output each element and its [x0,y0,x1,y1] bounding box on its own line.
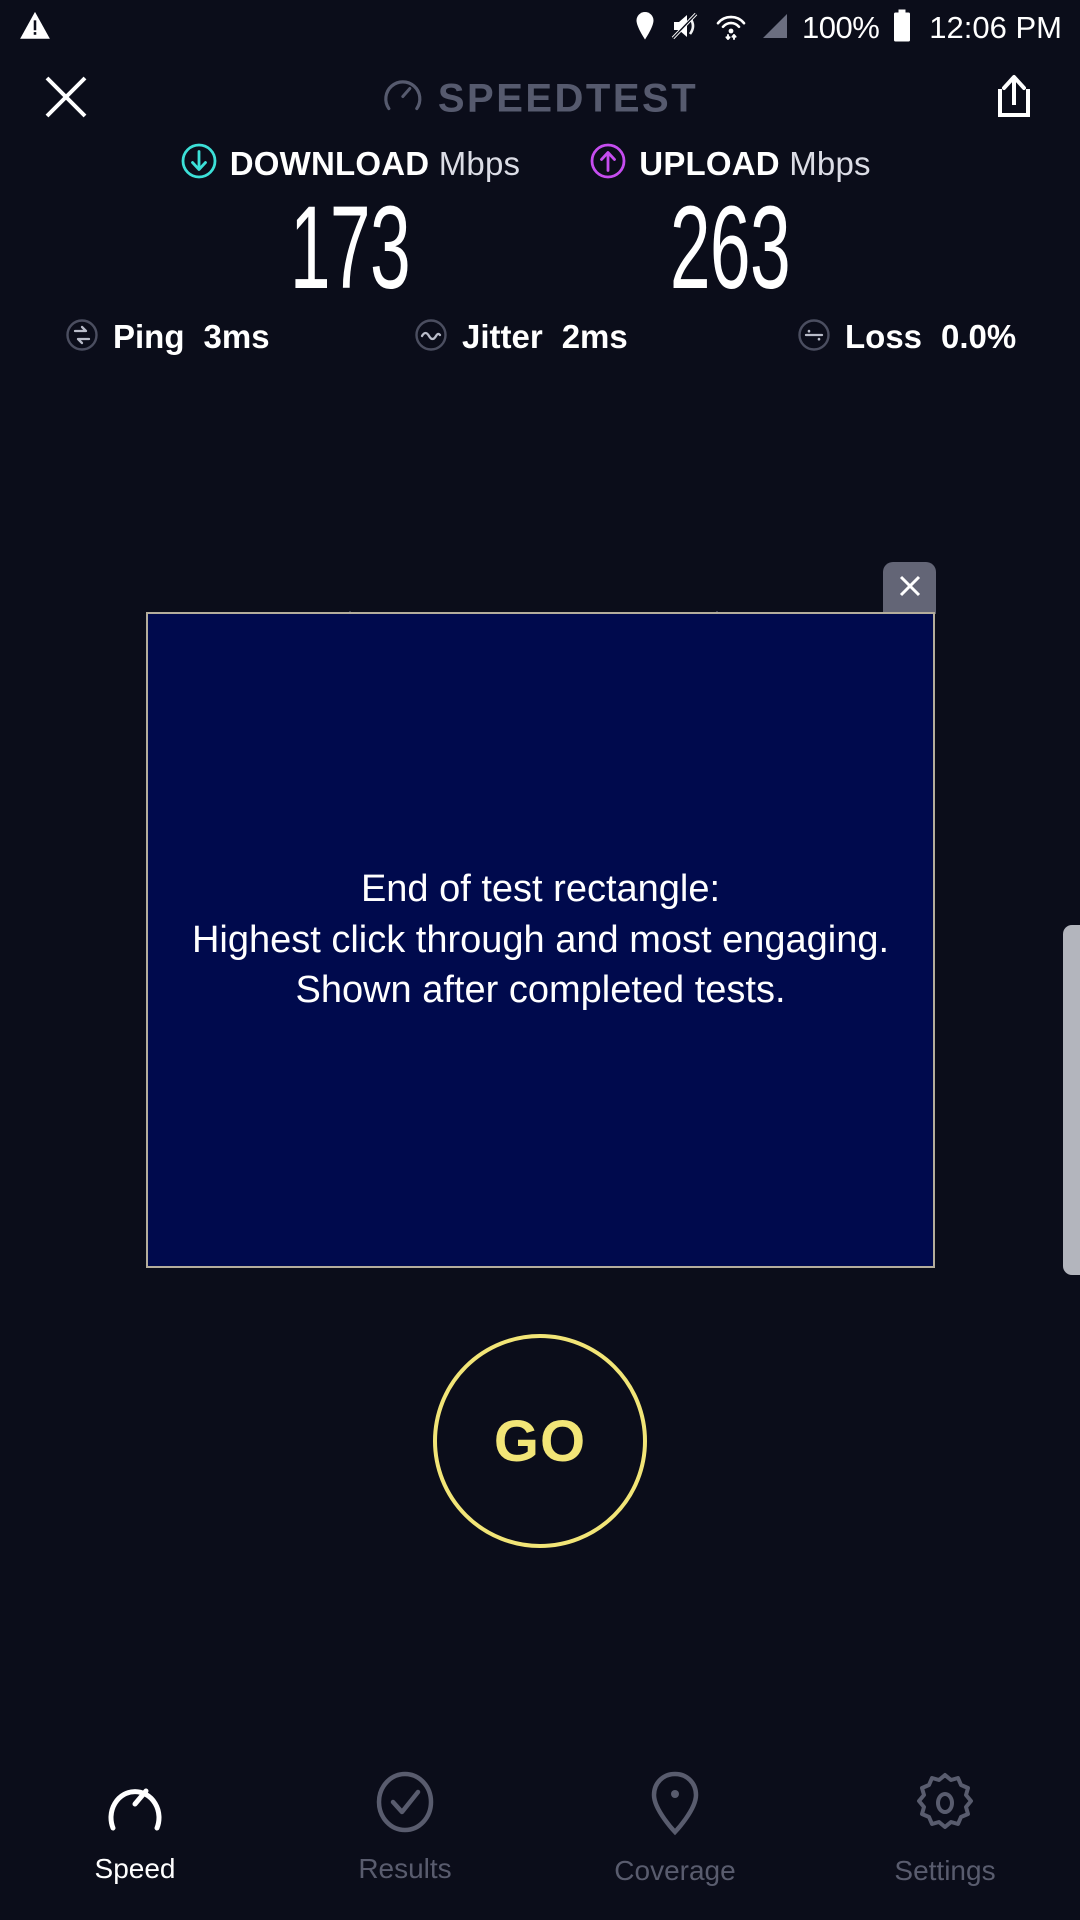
ad-text-line-3: Shown after completed tests. [192,965,889,1016]
status-bar: 100% 12:06 PM [0,0,1080,56]
metric-ping: Ping 3ms [64,317,270,358]
brand-logo: SPEEDTEST [382,76,698,123]
metric-jitter-label: Jitter [462,318,543,356]
nav-item-coverage[interactable]: Coverage [540,1770,810,1887]
app-header: SPEEDTEST [0,56,1080,142]
gear-icon [912,1770,978,1841]
brand-title: SPEEDTEST [438,77,698,122]
nav-item-speed-label: Speed [95,1853,176,1885]
wifi-icon [716,10,746,47]
ping-icon [64,317,100,358]
metrics-row: Ping 3ms Jitter 2ms [0,305,1080,369]
upload-value: 263 [670,189,790,307]
status-bar-clock: 12:06 PM [929,10,1062,46]
upload-value-wrap: 263 [633,189,827,307]
download-label-group: DOWNLOAD Mbps [180,142,520,185]
map-pin-icon [647,1770,703,1841]
metric-jitter: Jitter 2ms [413,317,628,358]
results-row: DOWNLOAD Mbps 173 UPLOAD Mbps [0,142,1080,307]
download-result: DOWNLOAD Mbps 173 [160,142,540,307]
share-button[interactable] [984,69,1044,129]
nav-item-speed[interactable]: Speed [0,1770,270,1885]
close-icon [43,74,89,125]
close-button[interactable] [36,69,96,129]
metric-ping-value: 3ms [204,318,270,356]
nav-item-coverage-label: Coverage [614,1855,735,1887]
cellular-signal-icon [759,12,789,45]
warning-triangle-icon [18,9,52,48]
jitter-icon [413,317,449,358]
download-label: DOWNLOAD Mbps [230,145,520,183]
download-value-wrap: 173 [253,189,447,307]
nav-item-results-label: Results [358,1853,451,1885]
results-summary: DOWNLOAD Mbps 173 UPLOAD Mbps [0,142,1080,307]
bottom-navigation: Speed Results Coverage [0,1760,1080,1920]
upload-arrow-icon [589,142,627,185]
upload-label: UPLOAD Mbps [639,145,870,183]
ad-close-button[interactable] [883,562,936,614]
ad-close-icon [895,571,925,606]
share-icon [991,73,1037,126]
advertisement-banner[interactable]: End of test rectangle: Highest click thr… [146,612,935,1268]
upload-result: UPLOAD Mbps 263 [540,142,920,307]
battery-full-icon [892,9,912,48]
ad-text-line-1: End of test rectangle: [192,864,889,915]
upload-label-group: UPLOAD Mbps [589,142,870,185]
volume-mute-icon [671,11,703,46]
go-button[interactable]: GO [433,1334,647,1548]
metric-loss-label: Loss [845,318,922,356]
vertical-scrollbar-thumb[interactable] [1063,925,1080,1275]
metric-loss: Loss 0.0% [796,317,1016,358]
status-bar-left [18,9,52,48]
speedtest-app-screen: 100% 12:06 PM SPEEDTEST [0,0,1080,1920]
download-value: 173 [290,189,410,307]
nav-item-results[interactable]: Results [270,1770,540,1885]
location-pin-icon [632,11,658,46]
metric-jitter-value: 2ms [562,318,628,356]
nav-item-settings-label: Settings [894,1855,995,1887]
metric-loss-value: 0.0% [941,318,1016,356]
status-bar-right: 100% 12:06 PM [632,9,1062,48]
battery-percent-label: 100% [802,10,879,46]
metric-ping-label: Ping [113,318,185,356]
ad-text: End of test rectangle: Highest click thr… [192,864,889,1016]
download-arrow-icon [180,142,218,185]
check-circle-icon [373,1770,437,1839]
speedometer-icon [101,1770,169,1839]
nav-item-settings[interactable]: Settings [810,1770,1080,1887]
go-button-label: GO [494,1408,586,1475]
ad-text-line-2: Highest click through and most engaging. [192,915,889,966]
loss-icon [796,317,832,358]
speedtest-gauge-icon [382,76,424,123]
